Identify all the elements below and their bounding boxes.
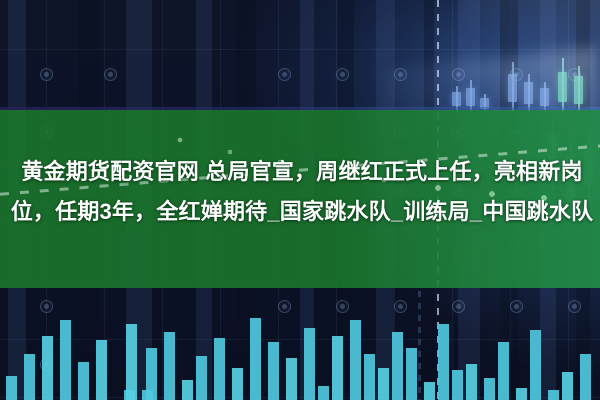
volume-bar-chart [0, 288, 600, 400]
banner-headline: 黄金期货配资官网 总局官宣，周继红正式上任，亮相新岗位，任期3年，全红婵期待_国… [6, 152, 598, 232]
banner-image: 黄金期货配资官网 总局官宣，周继红正式上任，亮相新岗位，任期3年，全红婵期待_国… [0, 0, 600, 400]
vertical-dashed-line-lower [418, 285, 421, 400]
watermark-text: 黄金期货配资官网 [21, 159, 199, 184]
